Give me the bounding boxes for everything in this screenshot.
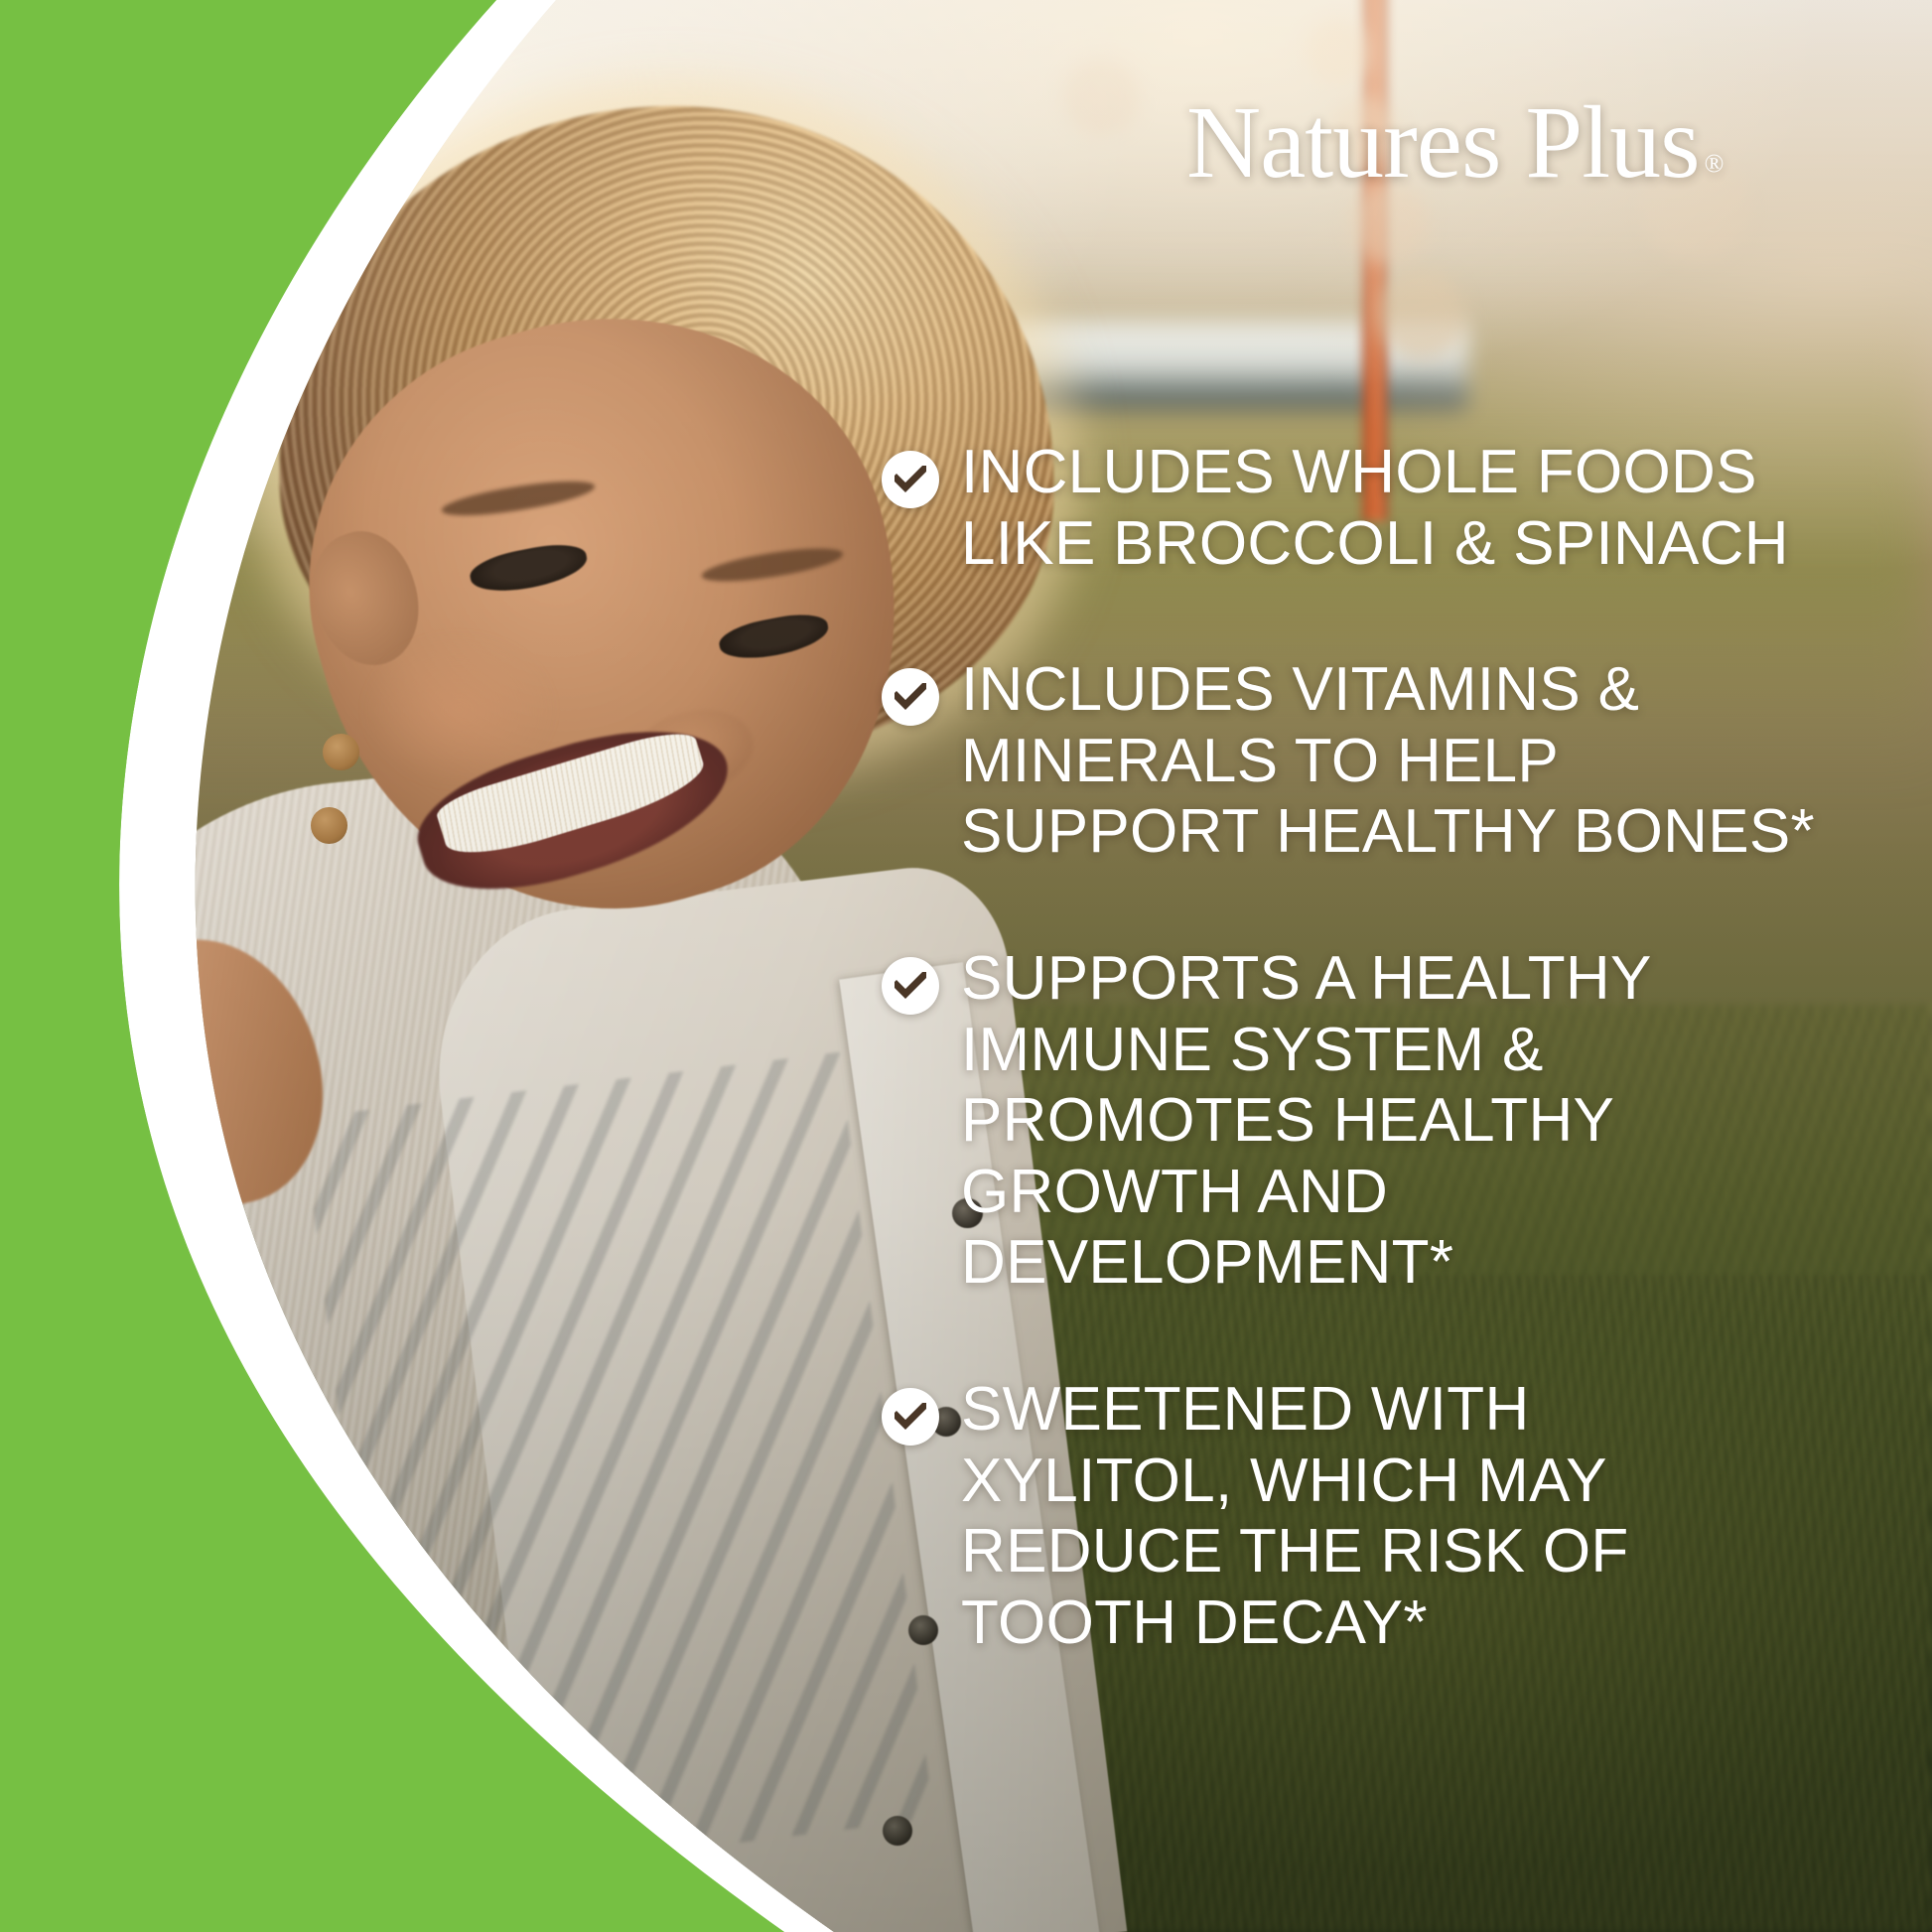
check-circle-icon <box>882 451 939 508</box>
benefit-text: INCLUDES VITAMINS & MINERALS TO HELP SUP… <box>961 654 1815 868</box>
benefit-text: INCLUDES WHOLE FOODS LIKE BROCCOLI & SPI… <box>961 437 1789 579</box>
benefits-list: INCLUDES WHOLE FOODS LIKE BROCCOLI & SPI… <box>882 437 1894 1659</box>
list-item: INCLUDES WHOLE FOODS LIKE BROCCOLI & SPI… <box>882 437 1894 579</box>
brand-logo: Natures Plus ® <box>1186 91 1724 195</box>
benefit-text: SUPPORTS A HEALTHY IMMUNE SYSTEM & PROMO… <box>961 943 1652 1299</box>
list-item: SUPPORTS A HEALTHY IMMUNE SYSTEM & PROMO… <box>882 943 1894 1299</box>
check-circle-icon <box>882 1388 939 1446</box>
check-circle-icon <box>882 668 939 726</box>
list-item: INCLUDES VITAMINS & MINERALS TO HELP SUP… <box>882 654 1894 868</box>
benefit-text: SWEETENED WITH XYLITOL, WHICH MAY REDUCE… <box>961 1374 1629 1658</box>
brand-name: Natures Plus <box>1186 91 1700 195</box>
list-item: SWEETENED WITH XYLITOL, WHICH MAY REDUCE… <box>882 1374 1894 1658</box>
registered-trademark-icon: ® <box>1705 151 1725 177</box>
product-benefits-banner: Natures Plus ® INCLUDES WHOLE FOODS LIKE… <box>0 0 1932 1932</box>
check-circle-icon <box>882 957 939 1015</box>
